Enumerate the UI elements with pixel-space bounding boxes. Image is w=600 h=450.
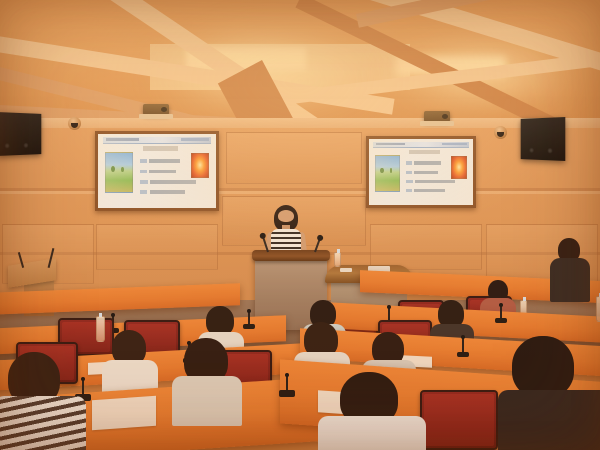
mic-capsule-icon <box>111 313 115 317</box>
audience-attendee <box>170 338 242 424</box>
audience-water-bottle <box>96 316 105 342</box>
slide-bullet-2 <box>140 170 194 174</box>
slide-bullet-number <box>406 189 412 192</box>
audience-chair[interactable] <box>420 390 498 450</box>
slide-bullet-number <box>140 190 147 194</box>
audience-attendee <box>548 238 590 300</box>
mic-base <box>457 352 469 357</box>
projection-screen-right <box>366 136 476 208</box>
slide-bullet-number <box>406 180 412 183</box>
projector-lens-icon <box>442 114 448 119</box>
attendee-torso <box>318 416 426 450</box>
presenter-face <box>278 210 294 222</box>
wall-trim-upper-highlight <box>0 191 600 194</box>
mic-capsule-icon <box>499 303 503 307</box>
desk-microphone[interactable] <box>286 376 288 394</box>
slide-photo-tree-icon <box>390 168 393 173</box>
slide-bullet-number <box>140 170 147 174</box>
mic-capsule-icon <box>461 335 465 339</box>
slide-bullet-text <box>149 159 179 163</box>
ceiling-projector-left <box>143 104 169 115</box>
mic-capsule-icon <box>387 305 391 309</box>
lecture-hall-photo <box>0 0 600 450</box>
slide-bullet-3 <box>406 180 460 183</box>
desk-microphone[interactable] <box>462 338 464 354</box>
chair-back-pad <box>424 394 494 446</box>
mic-capsule-icon <box>247 309 251 313</box>
slide-bullet-3 <box>140 180 201 184</box>
stage-water-bottle <box>334 252 341 267</box>
audience-paper-sheet <box>92 396 156 430</box>
slide-bullet-1 <box>140 159 194 163</box>
slide-bullet-text <box>150 180 195 184</box>
mic-base <box>279 390 295 397</box>
desk-microphone[interactable] <box>500 306 502 320</box>
speaker-driver-icon <box>529 148 533 153</box>
attendee-head <box>512 336 574 398</box>
ceiling-projector-right <box>424 111 450 122</box>
slide-bullet-2 <box>406 171 454 174</box>
projector-lens-icon <box>161 107 167 112</box>
slide-bullet-text <box>150 190 185 194</box>
slide-title-bar <box>373 142 469 148</box>
slide-surface-left <box>98 134 216 208</box>
desk-microphone[interactable] <box>248 312 250 326</box>
wall-panel-left-low <box>96 224 218 270</box>
speaker-driver-icon <box>5 143 10 148</box>
audience-water-bottle <box>596 296 600 322</box>
attendee-torso <box>498 390 600 450</box>
podium-wood-top <box>252 250 330 261</box>
slide-photo-tree-icon <box>111 166 115 172</box>
slide-bullet-number <box>406 161 412 164</box>
attendee-torso <box>172 376 242 426</box>
wall-speaker-right <box>521 117 566 161</box>
slide-photo-tree-icon <box>121 167 124 172</box>
mic-base <box>243 324 255 329</box>
dome-camera-left <box>68 117 81 130</box>
coffered-beam-ceiling <box>0 0 600 128</box>
mic-base <box>495 318 507 323</box>
speaker-driver-icon <box>548 148 553 153</box>
projector-mount-plate <box>420 121 454 126</box>
slide-bullet-4 <box>140 190 197 194</box>
slide-bullet-text <box>414 171 438 174</box>
slide-bullet-number <box>140 159 147 163</box>
slide-bullet-text <box>414 161 441 164</box>
wall-speaker-left <box>0 112 41 156</box>
attendee-torso <box>550 258 590 302</box>
slide-photo-tree-icon <box>380 168 384 174</box>
audience-attendee <box>98 330 158 392</box>
slide-bullet-text <box>415 180 455 183</box>
projector-mount-plate <box>139 114 173 119</box>
slide-photo-field <box>105 152 133 193</box>
slide-bullet-4 <box>406 189 456 192</box>
slide-bullet-1 <box>406 161 454 164</box>
slide-thumbnail-sunset <box>451 156 467 178</box>
slide-heading-placeholder <box>409 150 440 155</box>
dome-camera-right <box>494 126 507 139</box>
slide-photo-field <box>375 155 400 192</box>
slide-surface-right <box>369 139 473 205</box>
stage-paper-sheet <box>340 268 352 272</box>
slide-bullet-number <box>406 171 412 174</box>
slide-bullet-text <box>149 170 176 174</box>
slide-heading-placeholder <box>143 146 178 151</box>
wall-panel-center-top <box>226 132 362 184</box>
audience-attendee <box>0 352 90 450</box>
wall-panel-right-low <box>370 224 482 270</box>
slide-bullet-text <box>414 189 445 192</box>
attendee-striped-top <box>0 396 86 450</box>
slide-thumbnail-sunset <box>191 153 209 178</box>
speaker-driver-icon <box>24 143 29 148</box>
projection-screen-left <box>95 131 219 211</box>
audience-attendee <box>318 372 426 450</box>
audience-attendee <box>494 336 600 450</box>
slide-title-bar <box>103 137 212 144</box>
mic-capsule-icon <box>285 373 289 377</box>
slide-bullet-number <box>140 180 147 184</box>
